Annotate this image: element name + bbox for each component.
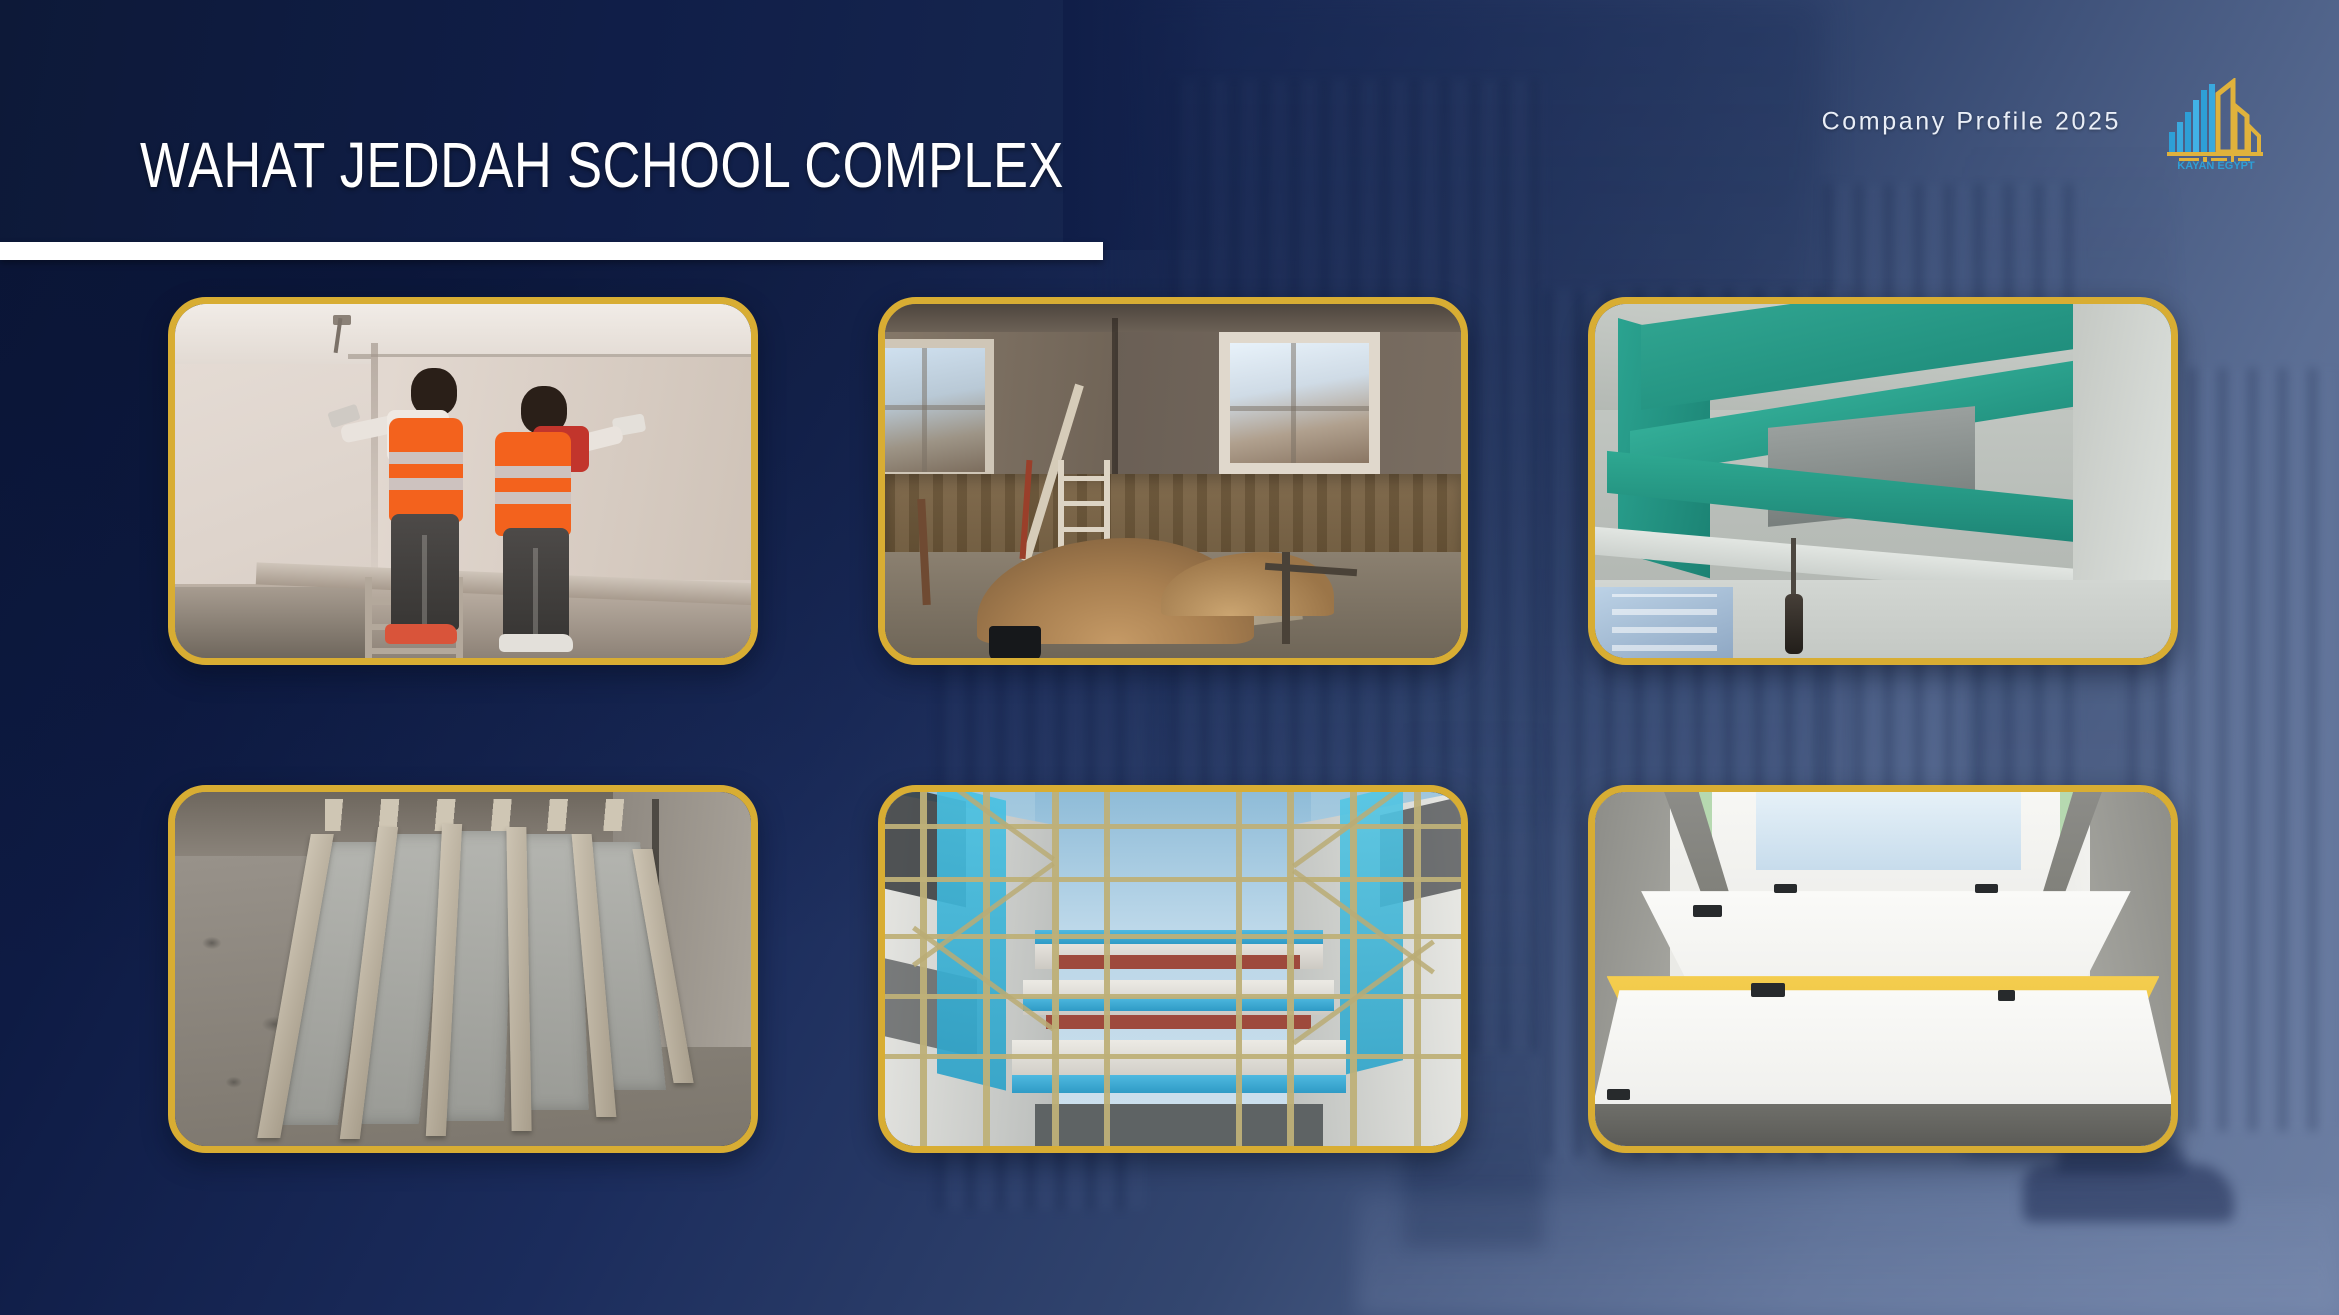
kayan-egypt-logo[interactable]: KAYAN EGYPT bbox=[2155, 78, 2277, 170]
title-underline-rule bbox=[0, 242, 1103, 260]
header-panel bbox=[0, 0, 1103, 250]
photo-card-concrete-screed-strips[interactable] bbox=[168, 785, 758, 1153]
photo-card-workers-plastering-wall[interactable] bbox=[168, 297, 758, 665]
photo-card-skylight-atrium-void[interactable] bbox=[1588, 785, 2178, 1153]
logo-text-en: KAYAN EGYPT bbox=[2177, 160, 2255, 170]
company-profile-label: Company Profile 2025 bbox=[1822, 108, 2121, 137]
photo-card-scaffolding-courtyard[interactable] bbox=[878, 785, 1468, 1153]
photo-card-unfinished-room-windows[interactable] bbox=[878, 297, 1468, 665]
photo-card-teal-gypsum-ceiling[interactable] bbox=[1588, 297, 2178, 665]
slide-root: WAHAT JEDDAH SCHOOL COMPLEX Company Prof… bbox=[0, 0, 2339, 1315]
project-photo-gallery bbox=[168, 297, 2178, 1177]
page-title: WAHAT JEDDAH SCHOOL COMPLEX bbox=[140, 133, 1064, 197]
